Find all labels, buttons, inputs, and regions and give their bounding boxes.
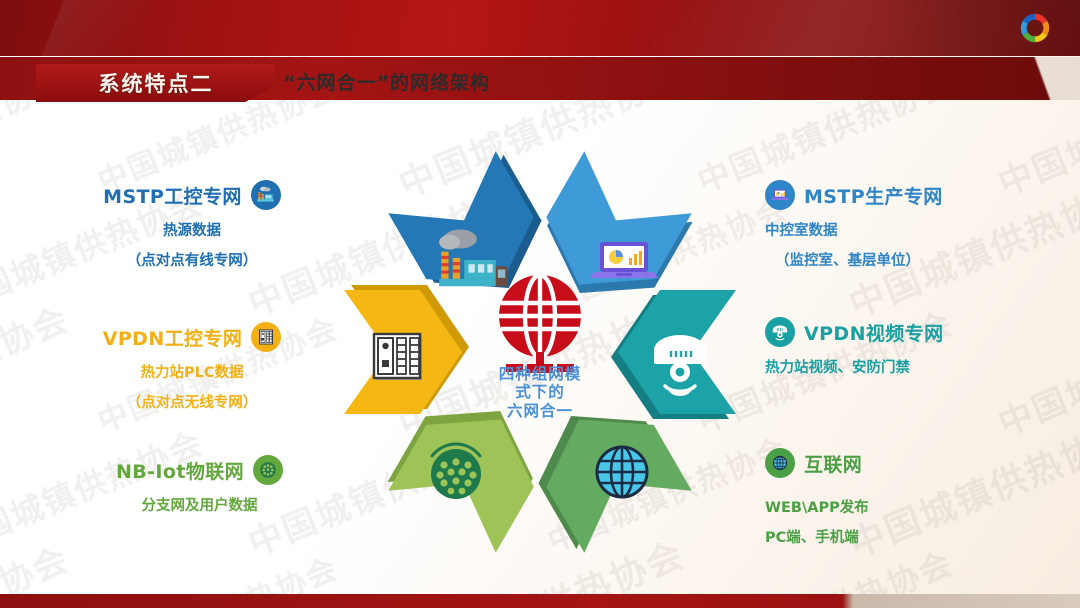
label-mstp-production[interactable]: MSTP生产专网 中控室数据 （监控室、基层单位） [765,180,1065,270]
label-nbiot-title: NB-Iot物联网 [116,457,244,484]
feature-tag-label: 系统特点二 [99,68,214,98]
label-internet[interactable]: 互联网 WEB\APP发布 PC端、手机端 [765,448,1065,547]
label-vpdn-industrial[interactable]: VPDN工控专网 热力站PLC数据 （点对点无线专网） [62,322,322,412]
label-vpdn-industrial-title: VPDN工控专网 [103,324,243,351]
slide-footer-bar [0,594,1080,608]
label-vpdn-video[interactable]: VPDN视频专网 热力站视频、安防门禁 [765,317,1065,377]
brand-swirl-logo-icon [1014,7,1056,49]
laptop-dashboard-icon [765,180,795,210]
label-internet-title: 互联网 [804,450,862,477]
label-nbiot-line-1: 分支网及用户数据 [62,494,337,515]
segment-icon-plc-controller-icon [374,334,422,380]
plc-controller-icon [251,322,281,352]
six-network-ring-diagram [328,140,752,564]
label-mstp-production-title: MSTP生产专网 [804,182,943,209]
label-internet-line-2: PC端、手机端 [765,526,1065,547]
label-mstp-industrial-line-2: （点对点有线专网） [62,249,322,270]
feature-tag: 系统特点二 [36,64,274,102]
center-red-globe-network-icon [499,275,581,373]
factory-plant-icon [251,180,281,210]
label-vpdn-industrial-line-2: （点对点无线专网） [62,391,322,412]
label-internet-line-1: WEB\APP发布 [765,496,1065,517]
label-vpdn-industrial-line-1: 热力站PLC数据 [62,361,322,382]
slide: 中国城镇供热协会中国城镇供热协会中国城镇供热协会中国城镇供热协会中国城镇供热协会… [0,0,1080,608]
header-slash-decoration [32,0,162,56]
label-mstp-industrial-title: MSTP工控专网 [103,182,242,209]
iot-mesh-globe-icon [253,455,283,485]
slide-header [0,0,1080,56]
label-mstp-industrial[interactable]: MSTP工控专网 热源数据 （点对点有线专网） [62,180,322,270]
label-mstp-industrial-line-1: 热源数据 [62,219,322,240]
security-camera-icon [765,317,795,347]
label-vpdn-video-line-1: 热力站视频、安防门禁 [765,356,1065,377]
label-nbiot[interactable]: NB-Iot物联网 分支网及用户数据 [62,455,337,515]
banner-subtitle: “六网合一”的网络架构 [283,68,490,95]
label-mstp-production-line-1: 中控室数据 [765,219,1065,240]
internet-globe-icon [765,448,795,478]
label-mstp-production-line-2: （监控室、基层单位） [765,249,1065,270]
segment-icon-laptop-dashboard-icon [590,242,658,278]
label-vpdn-video-title: VPDN视频专网 [804,319,944,346]
segment-icon-internet-globe-icon [597,447,647,497]
